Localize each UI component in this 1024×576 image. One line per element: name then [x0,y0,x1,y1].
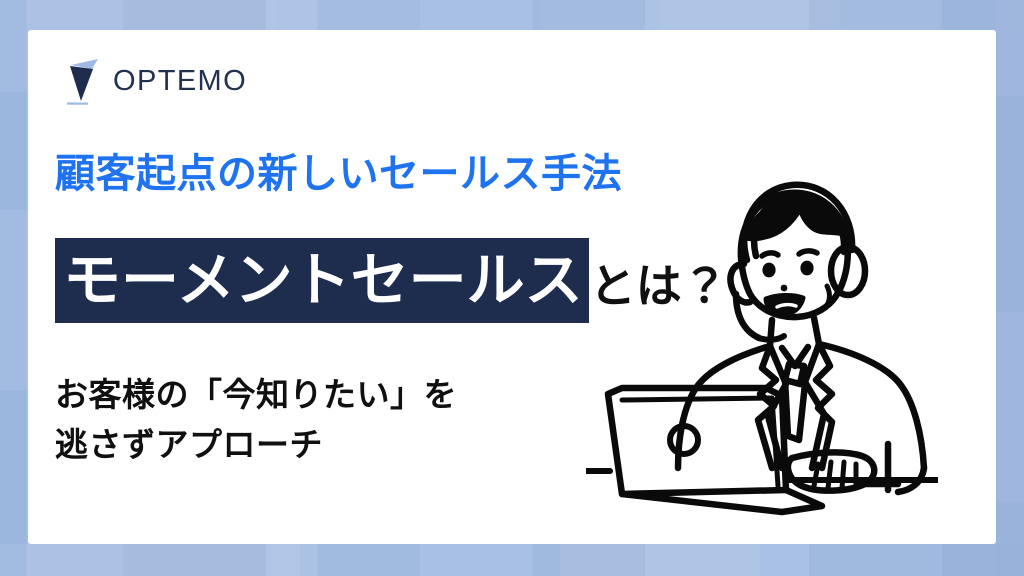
cheek-line [825,286,829,308]
slide-canvas: OPTEMO 顧客起点の新しいセールス手法 モーメントセールス とは？ お客様の… [0,0,1024,576]
eyebrow-headline: 顧客起点の新しいセールス手法 [55,152,622,197]
mouth [766,295,803,314]
subcopy-line-2: 逃さずアプローチ [55,420,457,470]
optemo-wordmark: OPTEMO [113,67,247,96]
headset-agent-illustration [586,168,938,526]
subcopy-block: お客様の「今知りたい」を 逃さずアプローチ [55,370,457,470]
hands [788,452,874,490]
subcopy-line-1: お客様の「今知りたい」を [55,370,457,420]
optemo-logo[interactable]: OPTEMO [62,55,247,107]
nose [781,285,788,292]
eyes [762,261,813,278]
optemo-funnel-icon [62,55,102,107]
title-highlight-term: モーメントセールス [55,238,589,323]
laptop [608,388,822,512]
eyebrows [762,251,817,256]
